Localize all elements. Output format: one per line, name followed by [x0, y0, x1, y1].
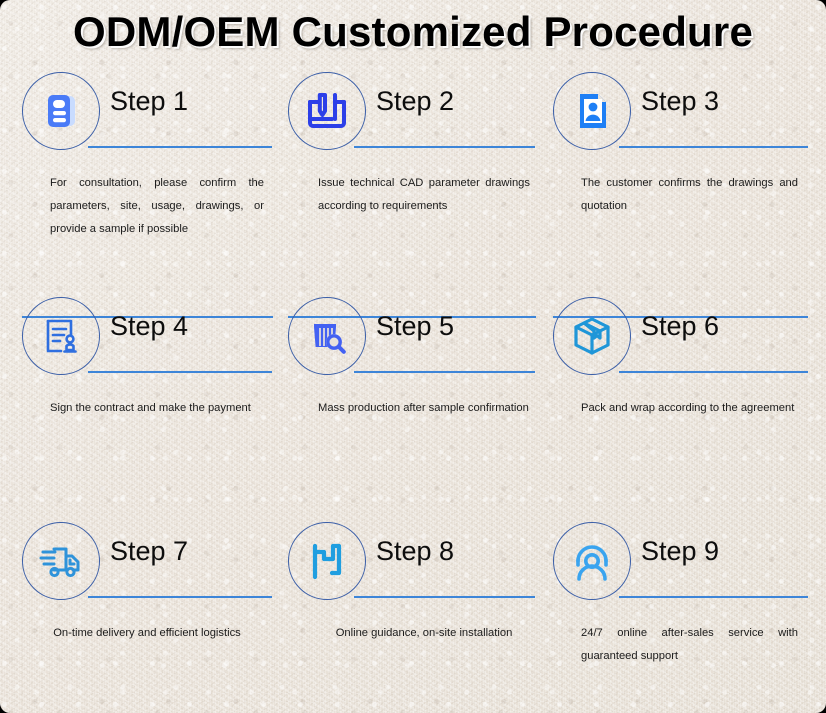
step-card-1[interactable]: Step 1 For consultation, please confirm … — [22, 72, 272, 297]
step-8-header: Step 8 — [288, 522, 536, 606]
infographic-page: ODM/OEM Customized Procedure Ste — [0, 0, 826, 713]
step-1-header: Step 1 — [22, 72, 272, 156]
step-3-header: Step 3 — [553, 72, 808, 156]
step-5-icon-circle — [288, 297, 366, 375]
step-4-description: Sign the contract and make the payment — [50, 397, 264, 420]
step-card-4[interactable]: Step 4 Sign the contract and make the pa… — [22, 297, 272, 522]
step-4-header: Step 4 — [22, 297, 272, 381]
step-9-header-rule — [619, 596, 808, 598]
step-7-label: Step 7 — [110, 538, 188, 565]
step-8-description: Online guidance, on-site installation — [318, 622, 530, 645]
step-9-label: Step 9 — [641, 538, 719, 565]
step-4-header-rule — [88, 371, 272, 373]
step-card-5[interactable]: Step 5 Mass production after sample conf… — [288, 297, 536, 522]
step-3-icon-circle — [553, 72, 631, 150]
step-8-label: Step 8 — [376, 538, 454, 565]
step-2-description: Issue technical CAD parameter drawings a… — [318, 172, 530, 218]
step-1-label: Step 1 — [110, 88, 188, 115]
step-6-icon-circle — [553, 297, 631, 375]
step-5-label: Step 5 — [376, 313, 454, 340]
step-1-icon-circle — [22, 72, 100, 150]
page-title: ODM/OEM Customized Procedure — [73, 8, 753, 56]
step-8-icon-circle — [288, 522, 366, 600]
document-person-icon — [568, 87, 616, 135]
step-card-6[interactable]: Step 6 Pack and wrap according to the ag… — [553, 297, 808, 522]
factory-magnifier-icon — [303, 312, 351, 360]
step-3-header-rule — [619, 146, 808, 148]
package-box-icon — [567, 311, 617, 361]
delivery-truck-icon — [36, 536, 86, 586]
step-7-description: On-time delivery and efficient logistics — [32, 622, 262, 645]
step-6-label: Step 6 — [641, 313, 719, 340]
cad-drafting-board-pencil-icon — [301, 85, 353, 137]
step-9-header: Step 9 — [553, 522, 808, 606]
step-3-description: The customer confirms the drawings and q… — [581, 172, 798, 218]
step-5-header: Step 5 — [288, 297, 536, 381]
step-card-9[interactable]: Step 9 24/7 online after-sales service w… — [553, 522, 808, 713]
step-2-icon-circle — [288, 72, 366, 150]
step-7-header: Step 7 — [22, 522, 272, 606]
step-4-icon-circle — [22, 297, 100, 375]
step-7-header-rule — [88, 596, 272, 598]
step-6-header-rule — [619, 371, 808, 373]
headset-support-agent-icon — [567, 536, 617, 586]
steps-row-1: Step 1 For consultation, please confirm … — [0, 72, 826, 297]
contract-stamp-icon — [37, 312, 85, 360]
step-1-header-rule — [88, 146, 272, 148]
step-4-label: Step 4 — [110, 313, 188, 340]
pipe-installation-icon — [303, 537, 351, 585]
step-3-label: Step 3 — [641, 88, 719, 115]
step-9-description: 24/7 online after-sales service with gua… — [581, 622, 798, 668]
step-2-header: Step 2 — [288, 72, 536, 156]
step-card-8[interactable]: Step 8 Online guidance, on-site installa… — [288, 522, 536, 713]
step-6-description: Pack and wrap according to the agreement — [581, 397, 798, 420]
step-2-header-rule — [354, 146, 535, 148]
steps-grid: Step 1 For consultation, please confirm … — [0, 72, 826, 713]
step-5-header-rule — [354, 371, 535, 373]
step-7-icon-circle — [22, 522, 100, 600]
step-card-3[interactable]: Step 3 The customer confirms the drawing… — [553, 72, 808, 297]
step-8-header-rule — [354, 596, 535, 598]
page-title-container: ODM/OEM Customized Procedure — [0, 8, 826, 56]
steps-row-3: Step 7 On-time delivery and efficient lo… — [0, 522, 826, 713]
step-2-label: Step 2 — [376, 88, 454, 115]
step-card-7[interactable]: Step 7 On-time delivery and efficient lo… — [22, 522, 272, 713]
step-9-icon-circle — [553, 522, 631, 600]
steps-row-2: Step 4 Sign the contract and make the pa… — [0, 297, 826, 522]
step-1-description: For consultation, please confirm the par… — [50, 172, 264, 241]
document-lines-icon — [37, 87, 85, 135]
step-5-description: Mass production after sample confirmatio… — [318, 397, 530, 420]
step-6-header: Step 6 — [553, 297, 808, 381]
step-card-2[interactable]: Step 2 Issue technical CAD parameter dra… — [288, 72, 536, 297]
